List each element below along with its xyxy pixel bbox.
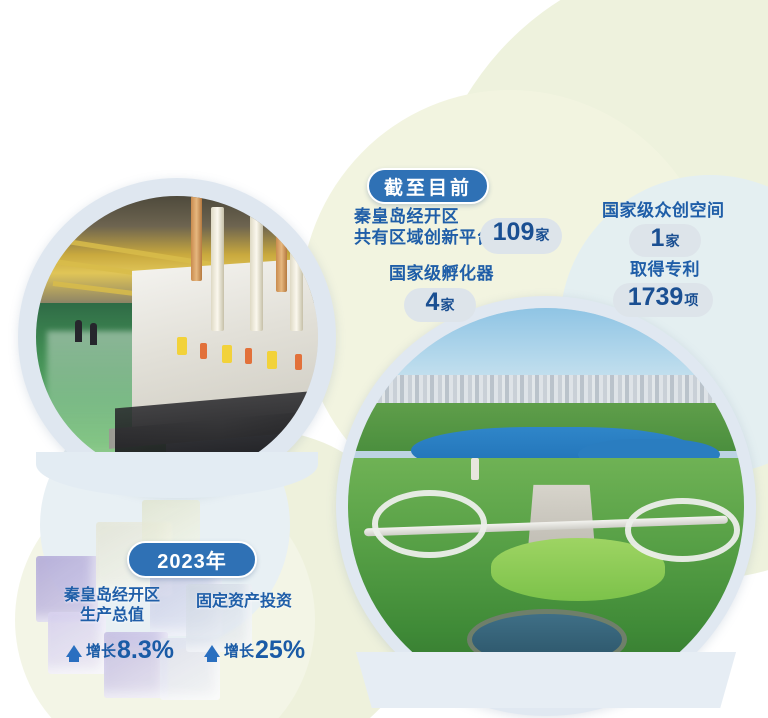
stat-label-national-incubators: 国家级孵化器	[389, 263, 494, 284]
stat-unit: 家	[665, 231, 679, 251]
stat-label-line1: 取得专利	[630, 259, 700, 280]
factory-photo-base	[36, 452, 318, 498]
park-aerial-photo	[348, 308, 744, 704]
factory-worker	[75, 320, 82, 342]
stat-label-national-makerspace: 国家级众创空间	[602, 200, 725, 221]
stat-unit: 家	[535, 225, 549, 245]
factory-worker	[90, 323, 97, 345]
factory-indicator-tag	[222, 345, 232, 363]
up-arrow-icon	[204, 645, 220, 657]
status-badge-year-2023: 2023年	[127, 541, 257, 578]
park-loop-path	[625, 498, 740, 561]
stat-label-line1: 固定资产投资	[196, 592, 292, 612]
factory-post	[290, 213, 303, 331]
factory-post	[250, 202, 263, 332]
stat-label-gdp-growth: 秦皇岛经开区 生产总值	[64, 586, 160, 626]
up-arrow-icon	[66, 645, 82, 657]
stat-label-line2: 共有区域创新平台	[354, 227, 494, 248]
infographic-canvas: 截至目前 秦皇岛经开区 共有区域创新平台 109 家 国家级孵化器 4 家 国家…	[0, 0, 768, 718]
stat-value-patents-obtained: 1739 项	[613, 283, 713, 317]
factory-indicator-tag	[177, 337, 187, 355]
growth-value: 25%	[255, 636, 305, 665]
park-observation-tower	[471, 458, 479, 480]
stat-unit: 家	[440, 295, 454, 315]
factory-indicator-tag	[295, 354, 302, 370]
growth-prefix: 增长	[224, 640, 254, 661]
factory-production-line-photo	[36, 196, 318, 478]
factory-post	[211, 207, 224, 331]
stat-label-fixed-asset-investment: 固定资产投资	[196, 592, 292, 612]
stat-label-line1: 秦皇岛经开区	[354, 206, 494, 227]
factory-indicator-tag	[267, 351, 277, 369]
stat-value-national-incubators: 4 家	[404, 288, 476, 322]
factory-indicator-tag	[200, 343, 207, 359]
status-badge-until-now: 截至目前	[367, 168, 489, 204]
stat-label-line1: 国家级孵化器	[389, 263, 494, 284]
stat-label-line1: 国家级众创空间	[602, 200, 725, 221]
stat-unit: 项	[684, 290, 698, 310]
stat-number: 1	[651, 224, 665, 253]
factory-indicator-tag	[245, 348, 252, 364]
growth-value: 8.3%	[117, 636, 174, 665]
stat-value-fixed-asset-investment: 增长 25%	[204, 636, 305, 665]
factory-pipe	[191, 196, 202, 281]
growth-prefix: 增长	[86, 640, 116, 661]
stat-value-innovation-platforms: 109 家	[480, 218, 562, 254]
park-photo-base	[348, 652, 744, 708]
stat-value-national-makerspace: 1 家	[629, 224, 701, 257]
stat-value-gdp-growth: 增长 8.3%	[66, 636, 174, 665]
park-loop-path	[372, 490, 487, 557]
stat-label-patents-obtained: 取得专利	[630, 259, 700, 280]
stat-label-line1: 秦皇岛经开区	[64, 586, 160, 606]
stat-number: 109	[493, 218, 535, 247]
stat-number: 1739	[628, 283, 684, 312]
factory-pipe	[276, 219, 287, 292]
stat-label-innovation-platforms: 秦皇岛经开区 共有区域创新平台	[354, 206, 494, 249]
stat-number: 4	[426, 288, 440, 317]
stat-label-line2: 生产总值	[64, 606, 160, 626]
